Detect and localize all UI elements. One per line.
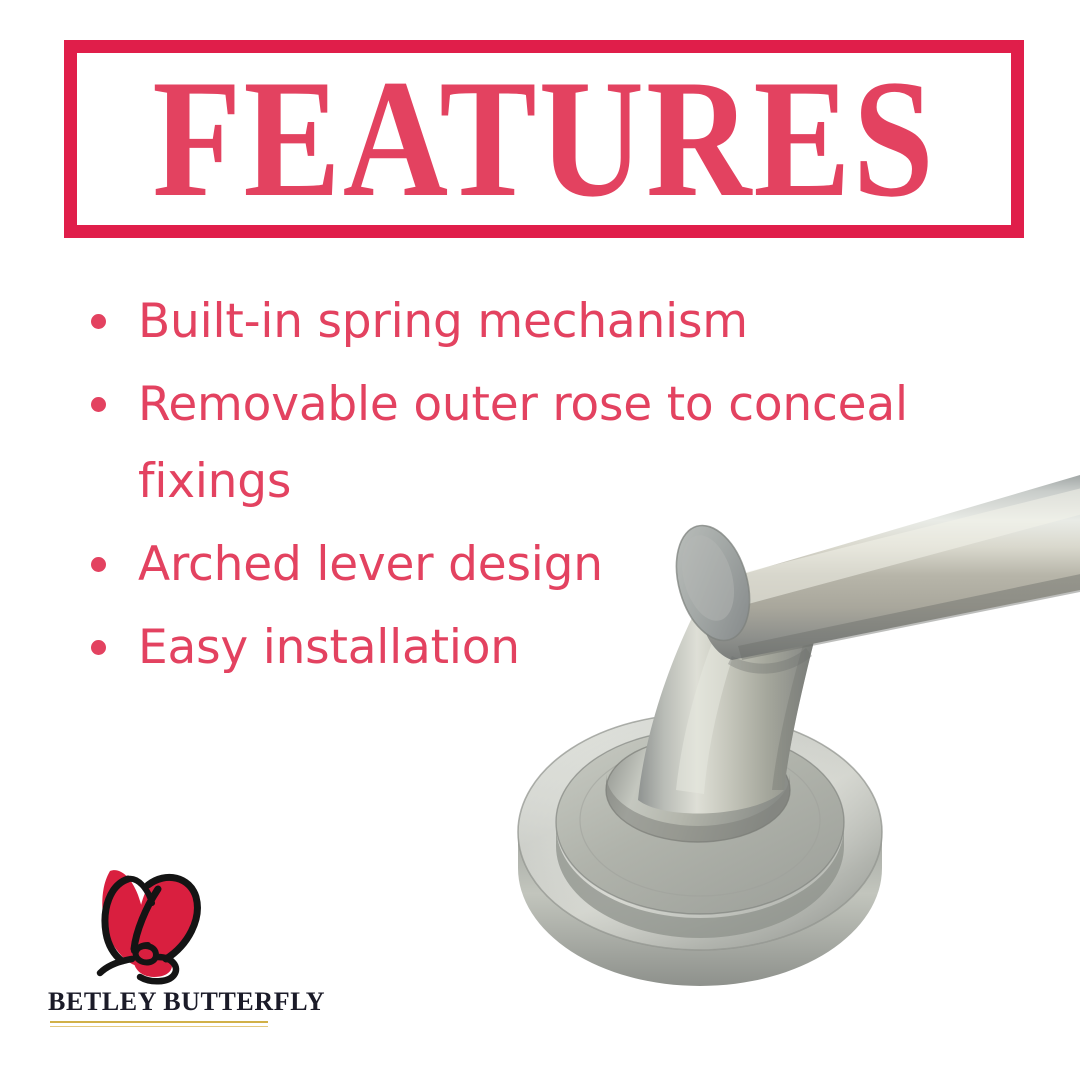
title-frame: FEATURES <box>64 40 1024 238</box>
list-item: Easy installation <box>86 609 986 686</box>
page-title-text: FEATURES <box>152 55 936 224</box>
features-list: Built-in spring mechanism Removable oute… <box>86 283 986 692</box>
list-item: Built-in spring mechanism <box>86 283 986 360</box>
bullet-dot-icon <box>91 557 106 572</box>
list-item: Removable outer rose to conceal fixings <box>86 366 986 520</box>
rose-base <box>518 714 882 986</box>
bullet-dot-icon <box>91 397 106 412</box>
feature-label: Arched lever design <box>138 526 986 603</box>
feature-label: Easy installation <box>138 609 986 686</box>
poster-canvas: FEATURES Built-in spring mechanism Remov… <box>0 0 1080 1080</box>
bullet-dot-icon <box>91 314 106 329</box>
bullet-dot-icon <box>91 640 106 655</box>
list-item: Arched lever design <box>86 526 986 603</box>
butterfly-icon <box>76 845 216 985</box>
brand-wordmark: BETLEY BUTTERFLY <box>48 987 270 1017</box>
feature-label: Removable outer rose to conceal fixings <box>138 366 986 520</box>
logo-rule-top <box>50 1021 268 1023</box>
handle-collar <box>606 738 790 842</box>
feature-label: Built-in spring mechanism <box>138 283 986 360</box>
logo-rule-bottom <box>50 1026 268 1027</box>
brand-logo: BETLEY BUTTERFLY <box>48 845 278 1035</box>
page-title: FEATURES <box>77 68 1011 211</box>
butterfly-lower-sweep <box>100 959 132 973</box>
